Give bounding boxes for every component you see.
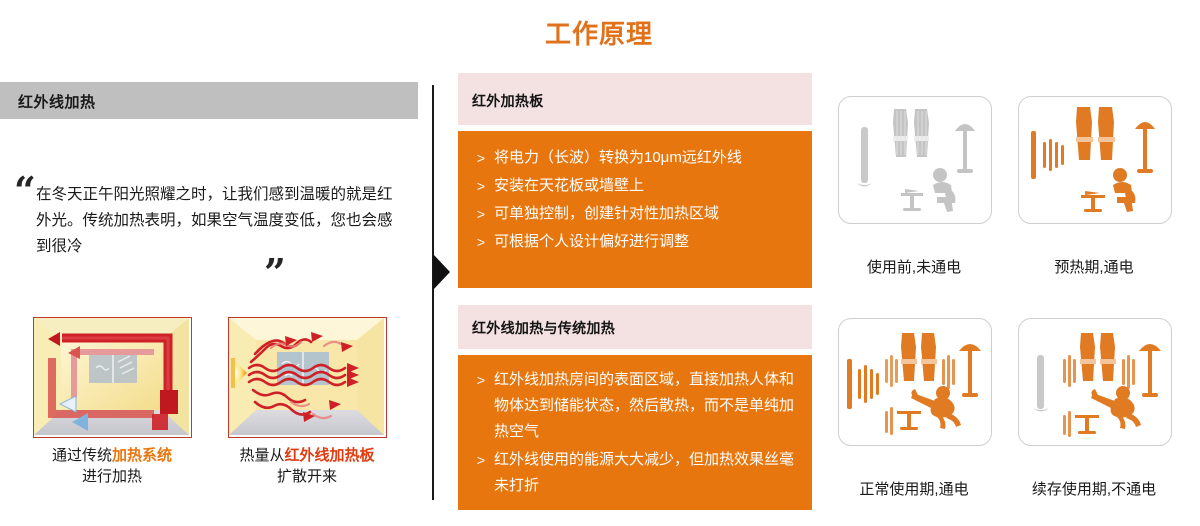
middle-section-header-2-label: 红外线加热与传统加热: [472, 318, 615, 338]
middle-section-body-2: > 红外线加热房间的表面区域，直接加热人体和物体达到储能状态，然后散热，而不是单…: [458, 355, 812, 510]
figure-caption-2-highlight: 红外线加热板: [285, 447, 375, 464]
left-section-header: 红外线加热: [0, 82, 418, 119]
bullet-list-1: > 将电力（长波）转换为10μm远红外线 > 安装在天花板或墙壁上 > 可单独控…: [458, 131, 812, 257]
figure-caption-1-line2: 进行加热: [82, 468, 142, 485]
bullet-marker-icon: >: [468, 145, 494, 171]
flow-arrow-right-icon: [433, 254, 450, 290]
panel-residual-use-power-off: [1018, 318, 1172, 446]
middle-section-header-2: 红外线加热与传统加热: [458, 305, 812, 349]
figure-caption-2: 热量从红外线加热板 扩散开来: [207, 445, 407, 487]
bullet-text: 将电力（长波）转换为10μm远红外线: [494, 145, 802, 171]
bullet-marker-icon: >: [468, 367, 494, 393]
panel-caption-4: 续存使用期,不通电: [1009, 478, 1179, 499]
panel-caption-3: 正常使用期,通电: [829, 478, 999, 499]
slide-root: 工作原理 红外线加热 “ 在冬天正午阳光照耀之时，让我们感到温暖的就是红外光。传…: [0, 0, 1200, 526]
bullet-list-2: > 红外线加热房间的表面区域，直接加热人体和物体达到储能状态，然后散热，而不是单…: [458, 355, 812, 501]
bullet-item: > 安装在天花板或墙壁上: [468, 173, 802, 199]
traditional-heating-graphic: [34, 318, 189, 435]
quote-open-mark: “: [14, 172, 36, 210]
bullet-text: 可根据个人设计偏好进行调整: [494, 229, 802, 255]
bullet-item: > 可单独控制，创建针对性加热区域: [468, 201, 802, 227]
panel-preheat-power-on: [1018, 96, 1172, 224]
figure-caption-2-line2: 扩散开来: [277, 468, 337, 485]
figure-caption-1-pre: 通过传统: [52, 447, 112, 464]
right-column: 使用前,未通电 预热期,通电 正常使用期,通电 续存使用期,不通电: [830, 0, 1200, 526]
bullet-text: 可单独控制，创建针对性加热区域: [494, 201, 802, 227]
bullet-text: 安装在天花板或墙壁上: [494, 173, 802, 199]
middle-section-header-1-label: 红外加热板: [472, 91, 544, 111]
infrared-heating-illustration: [228, 317, 387, 438]
panel-2-graphic: [1019, 97, 1169, 221]
panel-caption-2: 预热期,通电: [1009, 256, 1179, 277]
figure-caption-2-pre: 热量从: [239, 447, 284, 464]
bullet-item: > 红外线使用的能源大大减少，但加热效果丝毫未打折: [468, 447, 802, 499]
panel-normal-use-power-on: [838, 318, 992, 446]
panel-caption-1: 使用前,未通电: [829, 256, 999, 277]
column-divider: [432, 85, 434, 500]
panel-1-graphic: [839, 97, 989, 221]
bullet-text: 红外线使用的能源大大减少，但加热效果丝毫未打折: [494, 447, 802, 499]
left-column: 红外线加热 “ 在冬天正午阳光照耀之时，让我们感到温暖的就是红外光。传统加热表明…: [0, 0, 432, 526]
infrared-heating-graphic: [229, 318, 384, 435]
middle-column: 红外加热板 > 将电力（长波）转换为10μm远红外线 > 安装在天花板或墙壁上 …: [458, 0, 814, 526]
bullet-marker-icon: >: [468, 201, 494, 227]
bullet-marker-icon: >: [468, 173, 494, 199]
bullet-item: > 红外线加热房间的表面区域，直接加热人体和物体达到储能状态，然后散热，而不是单…: [468, 367, 802, 445]
bullet-marker-icon: >: [468, 229, 494, 255]
figure-caption-1: 通过传统加热系统 进行加热: [12, 445, 212, 487]
quote-close-mark: ”: [264, 254, 286, 292]
panel-4-graphic: [1019, 319, 1169, 443]
traditional-heating-illustration: [33, 317, 192, 438]
bullet-item: > 可根据个人设计偏好进行调整: [468, 229, 802, 255]
bullet-text: 红外线加热房间的表面区域，直接加热人体和物体达到储能状态，然后散热，而不是单纯加…: [494, 367, 802, 445]
panel-before-use-power-off: [838, 96, 992, 224]
panel-3-graphic: [839, 319, 989, 443]
figure-caption-1-highlight: 加热系统: [112, 447, 172, 464]
middle-section-body-1: > 将电力（长波）转换为10μm远红外线 > 安装在天花板或墙壁上 > 可单独控…: [458, 131, 812, 288]
left-section-header-label: 红外线加热: [18, 91, 96, 112]
quote-text: 在冬天正午阳光照耀之时，让我们感到温暖的就是红外光。传统加热表明，如果空气温度变…: [36, 182, 398, 260]
middle-section-header-1: 红外加热板: [458, 73, 812, 125]
bullet-item: > 将电力（长波）转换为10μm远红外线: [468, 145, 802, 171]
bullet-marker-icon: >: [468, 447, 494, 473]
